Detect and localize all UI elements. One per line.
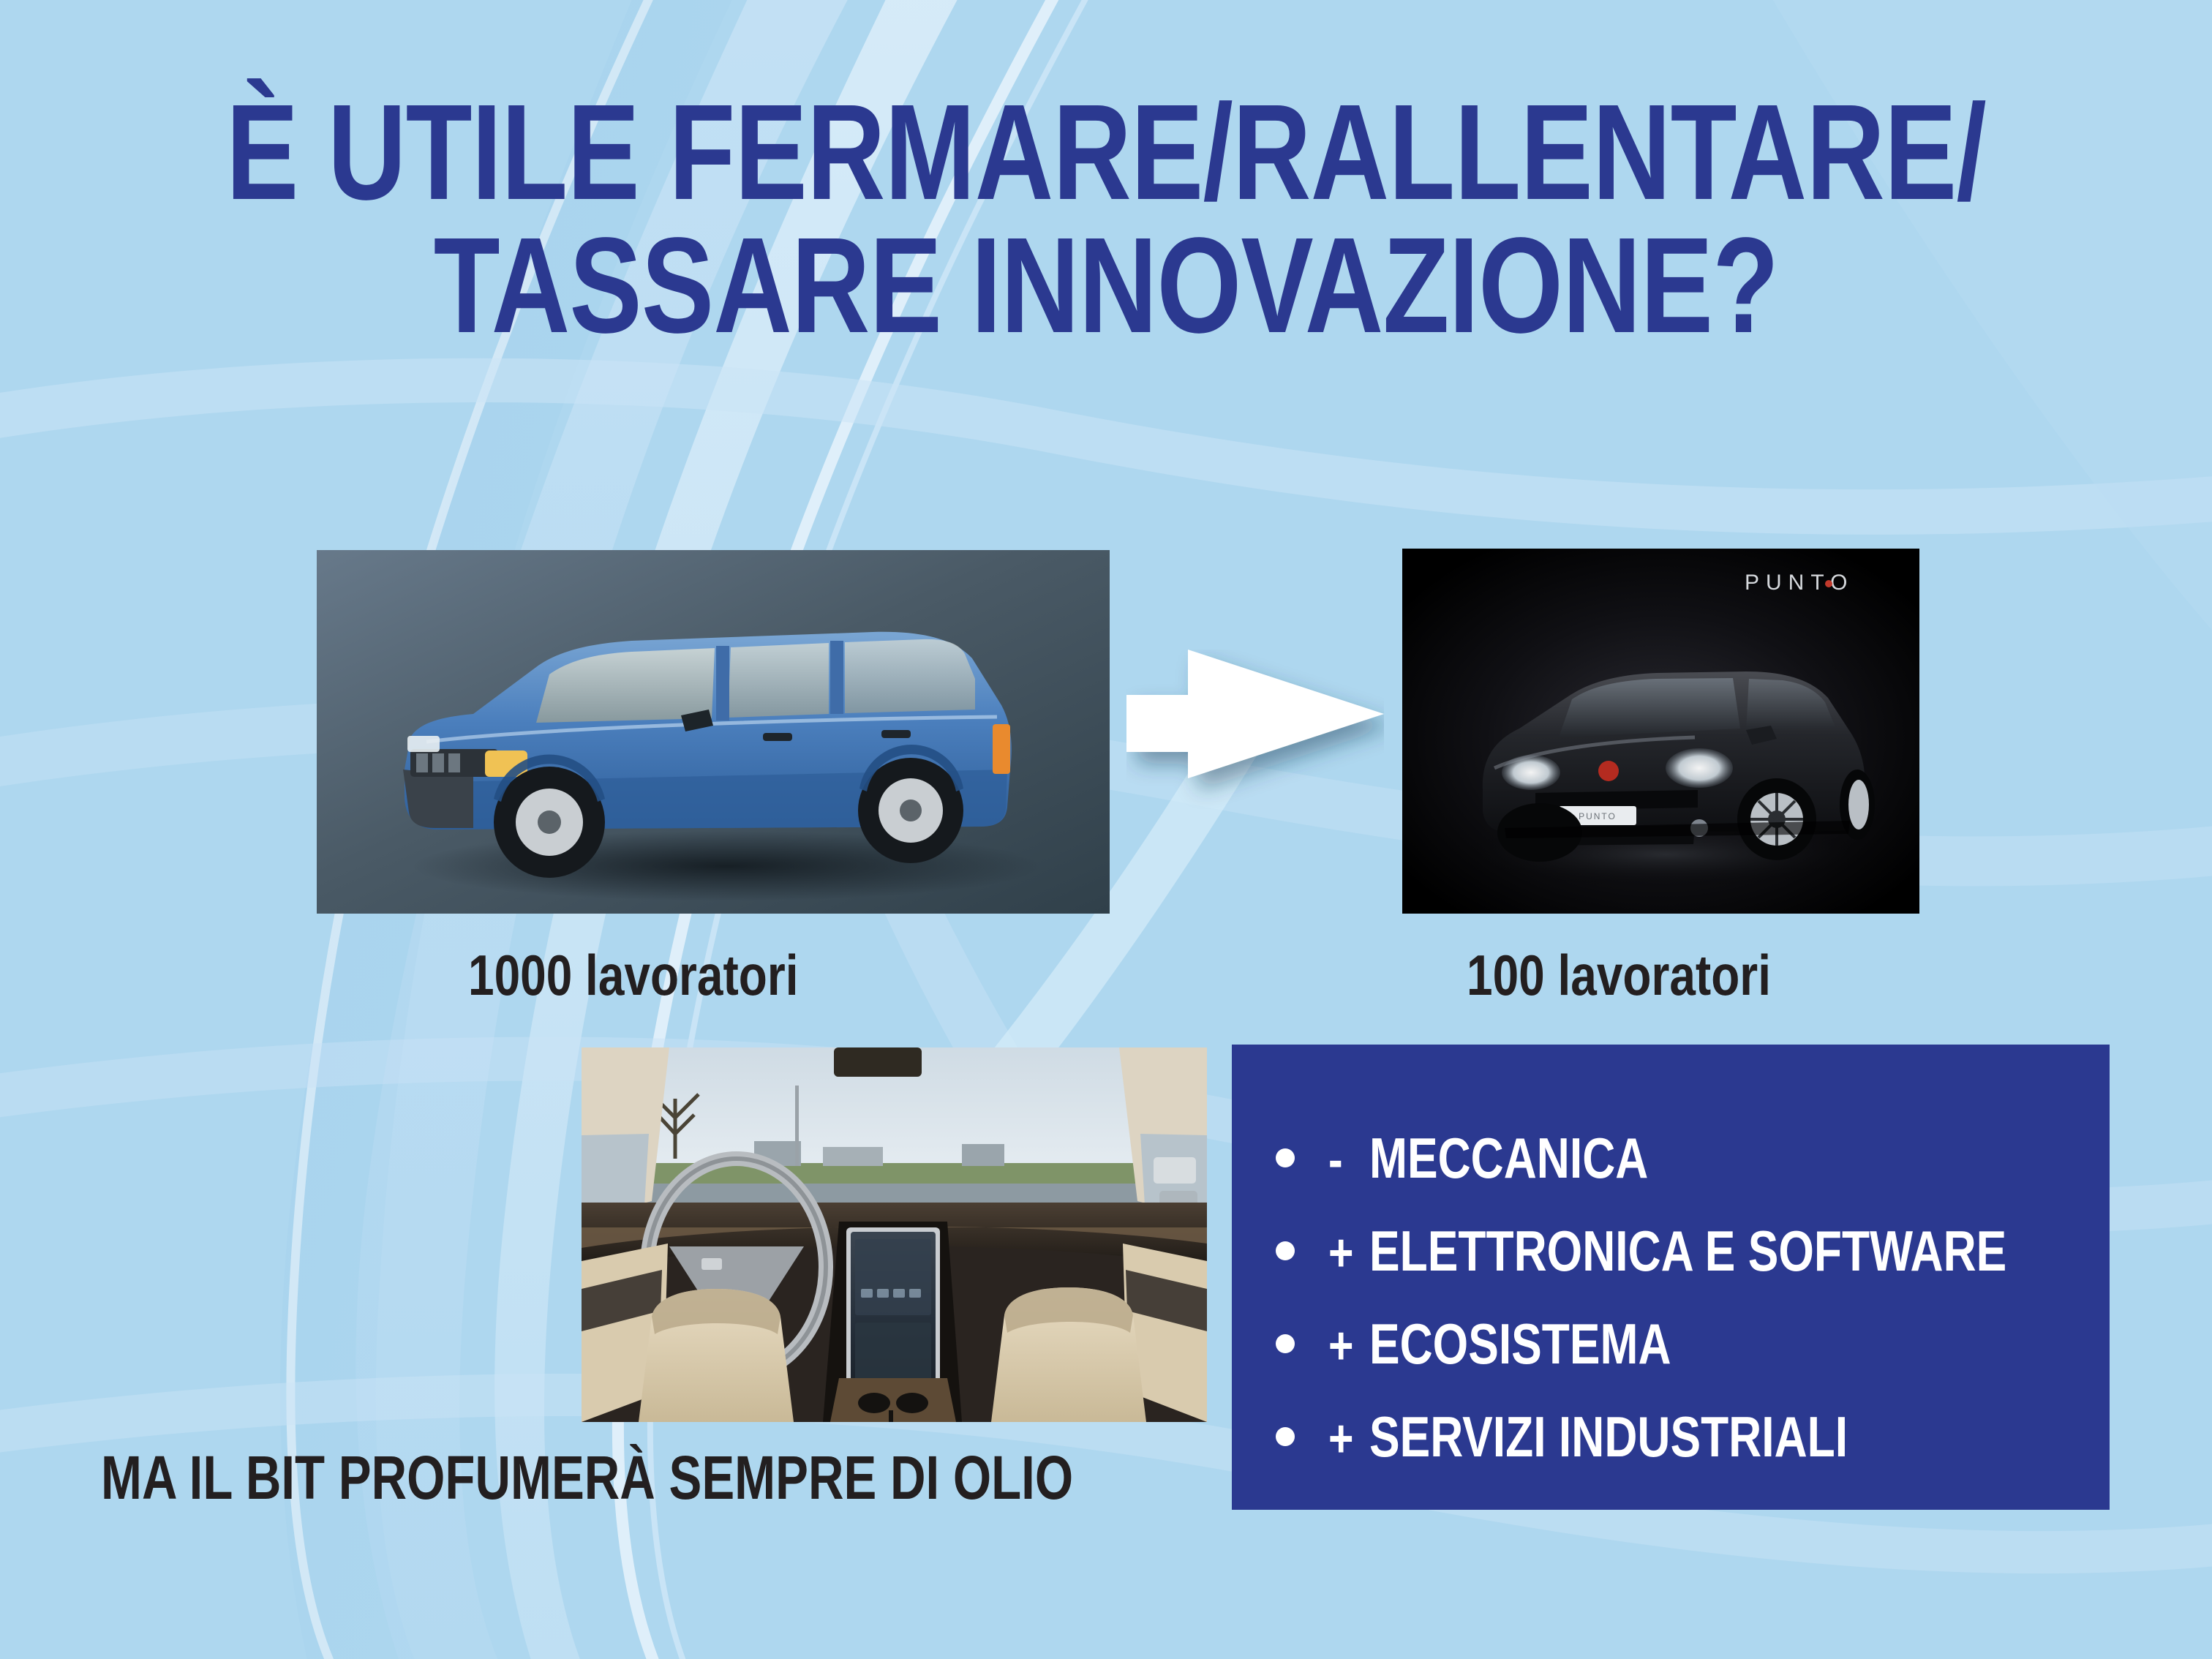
presentation-slide: È UTILE FERMARE/RALLENTARE/ TASSARE INNO… (0, 0, 2212, 1659)
bullet-item-elettronica-e-software: + ELETTRONICA E SOFTWARE (1276, 1218, 2166, 1284)
bullet-label: ELETTRONICA E SOFTWARE (1369, 1218, 2006, 1284)
caption-bottom-statement: MA IL BIT PROFUMERÀ SEMPRE DI OLIO (101, 1442, 1073, 1513)
arrow-right-icon (1126, 650, 1384, 822)
bullet-dot-icon (1276, 1241, 1295, 1260)
bullet-item-ecosistema: + ECOSISTEMA (1276, 1311, 2166, 1377)
caption-right-workers: 100 lavoratori (1467, 942, 1771, 1009)
bullet-item-servizi-industriali: + SERVIZI INDUSTRIALI (1276, 1404, 2166, 1470)
title-line-1: È UTILE FERMARE/RALLENTARE/ (221, 86, 1990, 219)
image-fiat-punto: PUNTO PUNTO (1402, 549, 1919, 914)
bullet-sign: - (1328, 1130, 1362, 1190)
bullet-dot-icon (1276, 1148, 1295, 1167)
bullet-label: ECOSISTEMA (1369, 1311, 1671, 1377)
fiat-uno-illustration (317, 550, 1110, 914)
title-line-2: TASSARE INNOVAZIONE? (221, 219, 1990, 353)
svg-text:PUNTO: PUNTO (1745, 571, 1854, 595)
bullet-sign: + (1328, 1223, 1362, 1283)
image-fiat-uno (317, 550, 1110, 914)
svg-text:PUNTO: PUNTO (1579, 811, 1617, 821)
punto-wordmark: PUNTO (1745, 571, 1854, 595)
slide-title: È UTILE FERMARE/RALLENTARE/ TASSARE INNO… (0, 86, 2212, 353)
bullet-sign: + (1328, 1316, 1362, 1376)
bullet-dot-icon (1276, 1334, 1295, 1353)
bullet-sign: + (1328, 1409, 1362, 1469)
fiat-punto-illustration: PUNTO PUNTO (1402, 549, 1919, 914)
bullet-panel: - MECCANICA + ELETTRONICA E SOFTWARE + E… (1232, 1045, 2110, 1510)
bullet-list: - MECCANICA + ELETTRONICA E SOFTWARE + E… (1276, 1125, 2166, 1497)
bullet-label: MECCANICA (1369, 1125, 1648, 1192)
bullet-label: SERVIZI INDUSTRIALI (1369, 1404, 1848, 1470)
transition-arrow-right (1126, 650, 1384, 822)
image-car-interior (582, 1047, 1207, 1422)
caption-left-workers: 1000 lavoratori (468, 942, 799, 1009)
car-interior-illustration (582, 1047, 1207, 1422)
bullet-item-meccanica: - MECCANICA (1276, 1125, 2166, 1192)
bullet-dot-icon (1276, 1427, 1295, 1446)
